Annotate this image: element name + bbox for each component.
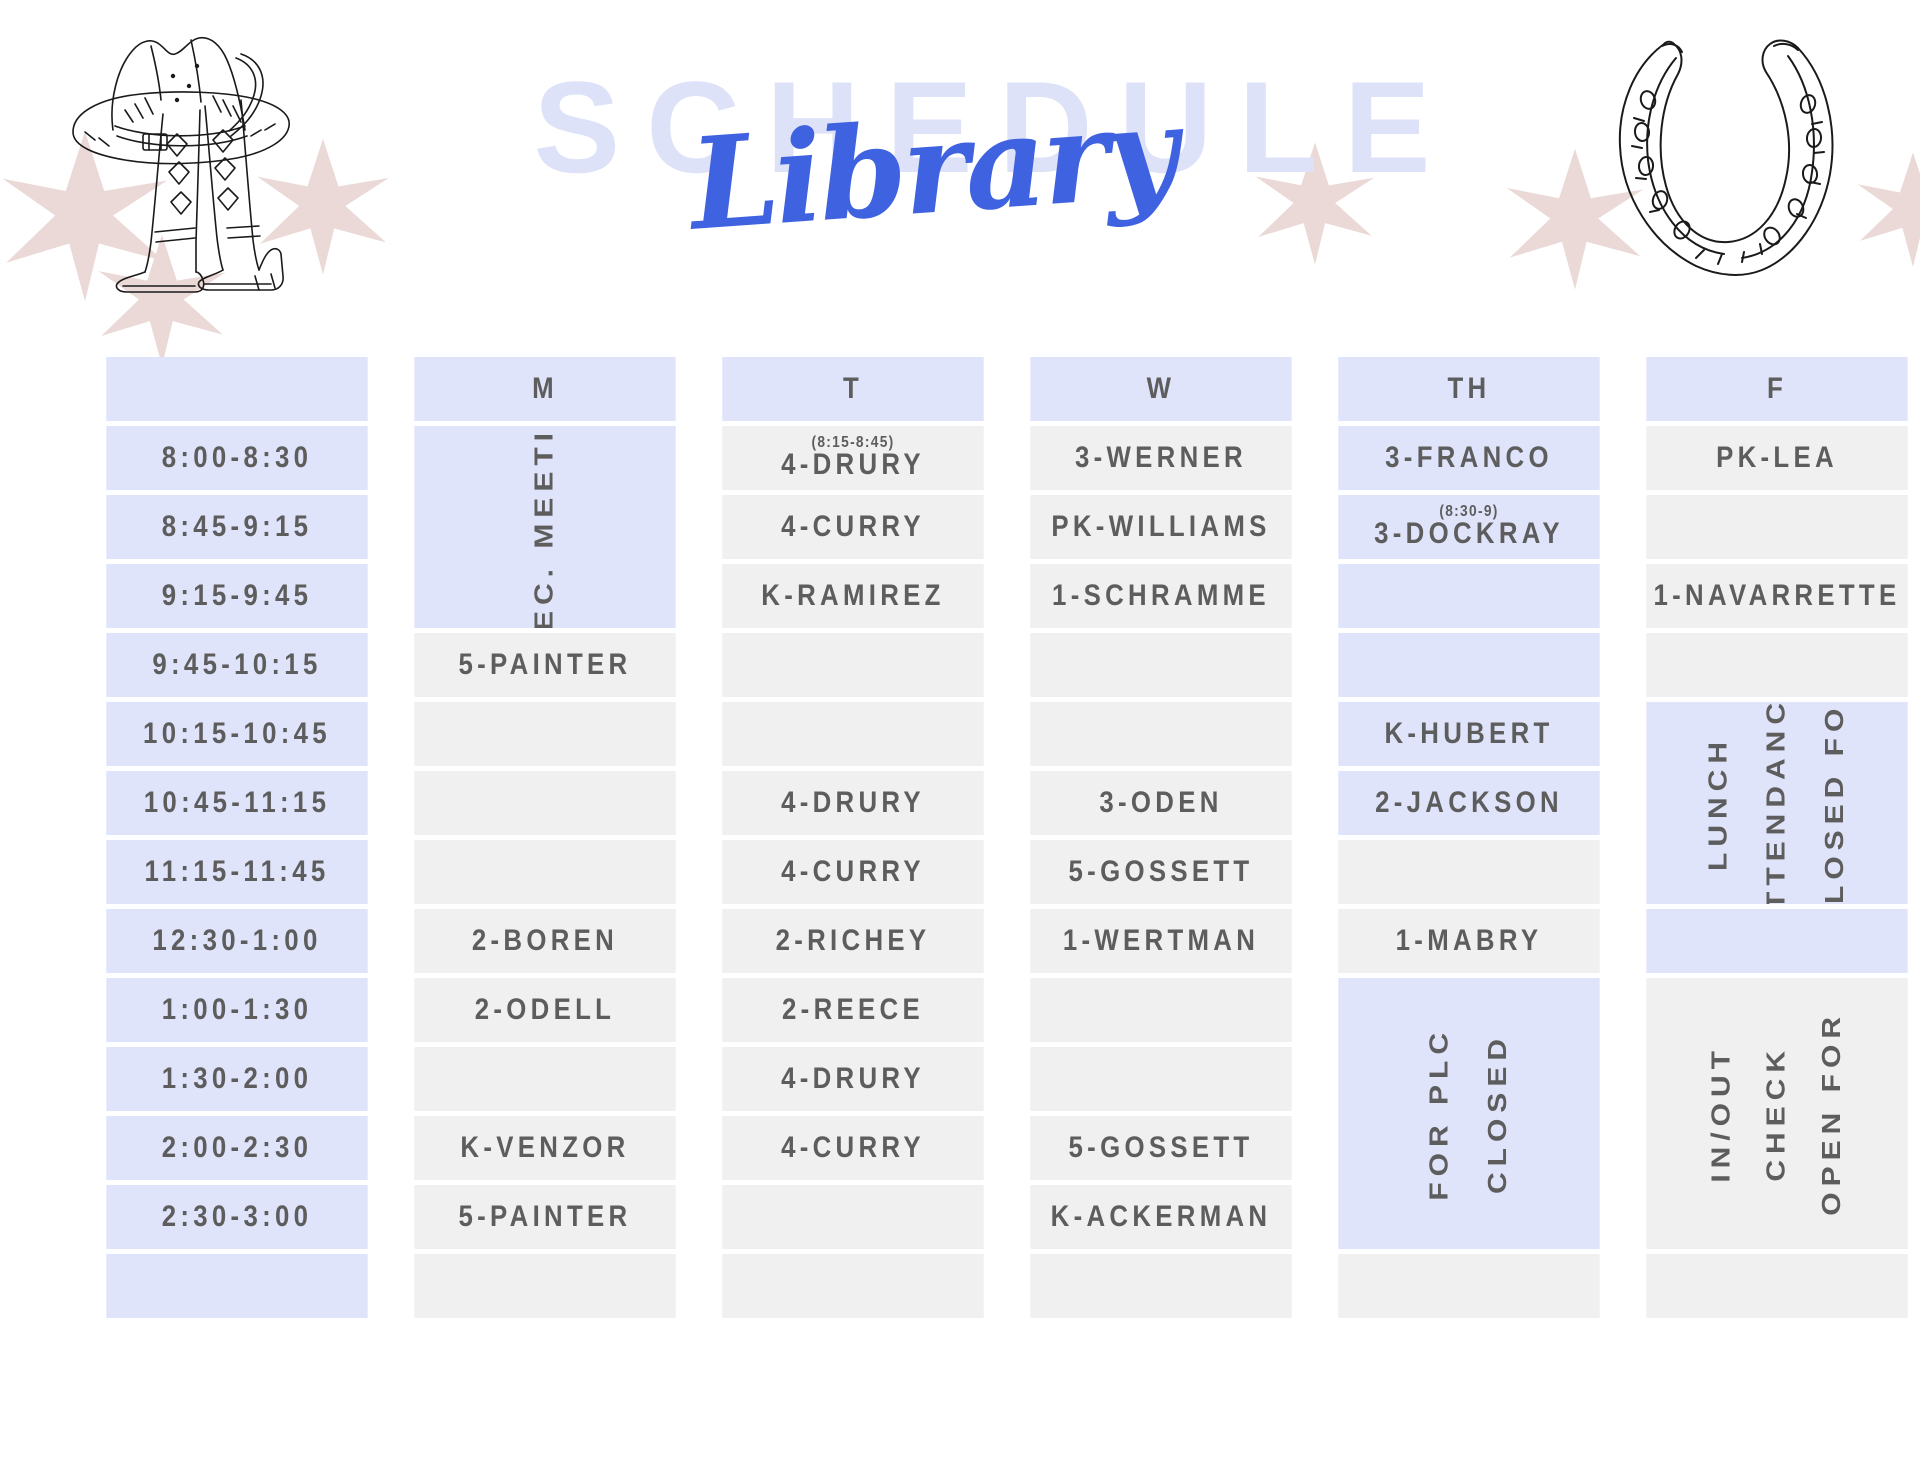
cell-text: K-VENZOR xyxy=(418,1132,673,1164)
table-row: 10:45-11:15 4-DRURY 3-ODEN 2-JACKSON xyxy=(85,771,1920,835)
table-row: 8:45-9:15 4-CURRY PK-WILLIAMS (8:30-9) 3… xyxy=(85,495,1920,559)
in-out-label: IN/OUT xyxy=(1707,1045,1736,1183)
cell-w-r2[interactable]: PK-WILLIAMS xyxy=(1030,495,1291,559)
time-label: 2:30-3:00 xyxy=(106,1185,367,1249)
cell-m-exec-meeting[interactable]: EXEC. MEETING xyxy=(414,426,675,628)
cell-m-r9[interactable]: 2-ODELL xyxy=(414,978,675,1042)
table-row: 2:30-3:00 5-PAINTER K-ACKERMAN xyxy=(85,1185,1920,1249)
cell-t-r8[interactable]: 2-RICHEY xyxy=(722,909,983,973)
cell-text: 4-CURRY xyxy=(726,511,981,543)
cell-text: 3-DOCKRAY xyxy=(1342,518,1597,550)
cell-text: K-ACKERMAN xyxy=(1034,1201,1289,1233)
cell-w-r10[interactable] xyxy=(1030,1047,1291,1111)
cell-text: 5-GOSSETT xyxy=(1034,1132,1289,1164)
cell-t-r3[interactable]: K-RAMIREZ xyxy=(722,564,983,628)
cell-text: 4-CURRY xyxy=(726,856,981,888)
cell-th-r6[interactable]: 2-JACKSON xyxy=(1338,771,1599,835)
cell-th-r7[interactable] xyxy=(1338,840,1599,904)
cell-text: PK-LEA xyxy=(1650,442,1905,474)
header-time-column xyxy=(106,357,367,421)
exec-meeting-label: EXEC. MEETING xyxy=(530,426,559,628)
time-label: 9:45-10:15 xyxy=(106,633,367,697)
for-plc-label: FOR PLC xyxy=(1425,1027,1454,1201)
cell-w-r6[interactable]: 3-ODEN xyxy=(1030,771,1291,835)
table-row: 2:00-2:30 K-VENZOR 4-CURRY 5-GOSSETT xyxy=(85,1116,1920,1180)
schedule-table: M T W TH F 8:00-8:30 EXEC. MEETING (8:15… xyxy=(81,352,1920,1323)
cell-text: 4-DRURY xyxy=(726,787,981,819)
cell-w-r9[interactable] xyxy=(1030,978,1291,1042)
cell-t-r7[interactable]: 4-CURRY xyxy=(722,840,983,904)
header-day-m: M xyxy=(414,357,675,421)
cell-f-r8[interactable] xyxy=(1646,909,1907,973)
check-label: CHECK xyxy=(1762,1045,1791,1182)
closed-for-label: CLOSED FOR xyxy=(1821,702,1850,904)
table-row: 9:15-9:45 K-RAMIREZ 1-SCHRAMME 1-NAVARRE… xyxy=(85,564,1920,628)
cell-t-r5[interactable] xyxy=(722,702,983,766)
cell-text: K-HUBERT xyxy=(1342,718,1597,750)
table-row: 12:30-1:00 2-BOREN 2-RICHEY 1-WERTMAN 1-… xyxy=(85,909,1920,973)
time-label: 2:00-2:30 xyxy=(106,1116,367,1180)
cell-text: 4-DRURY xyxy=(726,449,981,481)
attendance-label: ATTENDANCE xyxy=(1762,702,1791,904)
time-label: 8:00-8:30 xyxy=(106,426,367,490)
cell-m-r4[interactable]: 5-PAINTER xyxy=(414,633,675,697)
header-day-f: F xyxy=(1646,357,1907,421)
cell-m-r5[interactable] xyxy=(414,702,675,766)
time-label: 11:15-11:45 xyxy=(106,840,367,904)
cell-w-r11[interactable]: 5-GOSSETT xyxy=(1030,1116,1291,1180)
day-header-row: M T W TH F xyxy=(85,357,1920,421)
cell-m-r7[interactable] xyxy=(414,840,675,904)
cell-f-r1[interactable]: PK-LEA xyxy=(1646,426,1907,490)
table-row xyxy=(85,1254,1920,1318)
cell-m-r12[interactable]: 5-PAINTER xyxy=(414,1185,675,1249)
cell-w-r5[interactable] xyxy=(1030,702,1291,766)
table-row: 9:45-10:15 5-PAINTER xyxy=(85,633,1920,697)
time-label: 10:15-10:45 xyxy=(106,702,367,766)
cell-t-r4[interactable] xyxy=(722,633,983,697)
cell-m-r8[interactable]: 2-BOREN xyxy=(414,909,675,973)
header-day-w: W xyxy=(1030,357,1291,421)
cell-f-r3[interactable]: 1-NAVARRETTE xyxy=(1646,564,1907,628)
cell-th-r8[interactable]: 1-MABRY xyxy=(1338,909,1599,973)
cell-f-r13[interactable] xyxy=(1646,1254,1907,1318)
cell-text: 5-PAINTER xyxy=(418,649,673,681)
cell-w-r8[interactable]: 1-WERTMAN xyxy=(1030,909,1291,973)
cell-m-r13[interactable] xyxy=(414,1254,675,1318)
time-label: 12:30-1:00 xyxy=(106,909,367,973)
cell-text: 3-WERNER xyxy=(1034,442,1289,474)
cell-th-r3[interactable] xyxy=(1338,564,1599,628)
table-row: 11:15-11:45 4-CURRY 5-GOSSETT xyxy=(85,840,1920,904)
cell-text: 3-ODEN xyxy=(1034,787,1289,819)
cell-text: 3-FRANCO xyxy=(1342,442,1597,474)
cell-w-r13[interactable] xyxy=(1030,1254,1291,1318)
cell-th-r1[interactable]: 3-FRANCO xyxy=(1338,426,1599,490)
cell-m-r10[interactable] xyxy=(414,1047,675,1111)
cell-w-r12[interactable]: K-ACKERMAN xyxy=(1030,1185,1291,1249)
cell-text: 1-MABRY xyxy=(1342,925,1597,957)
cell-m-r6[interactable] xyxy=(414,771,675,835)
time-label: 1:30-2:00 xyxy=(106,1047,367,1111)
cell-text: K-RAMIREZ xyxy=(726,580,981,612)
cell-text: 2-BOREN xyxy=(418,925,673,957)
cell-th-closed-for-plc[interactable]: FOR PLC CLOSED xyxy=(1338,978,1599,1249)
cell-text: 2-JACKSON xyxy=(1342,787,1597,819)
closed-label: CLOSED xyxy=(1484,1033,1513,1194)
header-day-th: TH xyxy=(1338,357,1599,421)
cell-text: 4-CURRY xyxy=(726,1132,981,1164)
cell-t-r1[interactable]: (8:15-8:45) 4-DRURY xyxy=(722,426,983,490)
lunch-label: LUNCH xyxy=(1704,736,1733,871)
cell-th-r13[interactable] xyxy=(1338,1254,1599,1318)
cell-text: 1-NAVARRETTE xyxy=(1650,580,1905,612)
table-row: 1:30-2:00 4-DRURY xyxy=(85,1047,1920,1111)
page-header: SCHEDULE Library xyxy=(0,0,1920,352)
cell-th-r4[interactable] xyxy=(1338,633,1599,697)
cell-text: 5-PAINTER xyxy=(418,1201,673,1233)
cell-f-open-for-check-in-out[interactable]: IN/OUT CHECK OPEN FOR xyxy=(1646,978,1907,1249)
cell-text: PK-WILLIAMS xyxy=(1034,511,1289,543)
cell-text: 2-ODELL xyxy=(418,994,673,1026)
cell-th-r2[interactable]: (8:30-9) 3-DOCKRAY xyxy=(1338,495,1599,559)
page-title-library: Library xyxy=(686,88,1178,247)
cell-text: 2-REECE xyxy=(726,994,981,1026)
table-row: 10:15-10:45 K-HUBERT LUNCH ATTENDANCE CL… xyxy=(85,702,1920,766)
table-body: 8:00-8:30 EXEC. MEETING (8:15-8:45) 4-DR… xyxy=(85,426,1920,1318)
open-for-label: OPEN FOR xyxy=(1817,1011,1846,1216)
table-head: M T W TH F xyxy=(85,357,1920,421)
time-label: 8:45-9:15 xyxy=(106,495,367,559)
cell-f-r2[interactable] xyxy=(1646,495,1907,559)
cell-w-r1[interactable]: 3-WERNER xyxy=(1030,426,1291,490)
cell-t-r13[interactable] xyxy=(722,1254,983,1318)
cell-t-r2[interactable]: 4-CURRY xyxy=(722,495,983,559)
time-label: 10:45-11:15 xyxy=(106,771,367,835)
cell-text: 4-DRURY xyxy=(726,1063,981,1095)
cell-t-r11[interactable]: 4-CURRY xyxy=(722,1116,983,1180)
table-row: 1:00-1:30 2-ODELL 2-REECE FOR PLC CLOSED… xyxy=(85,978,1920,1042)
cell-text: 1-WERTMAN xyxy=(1034,925,1289,957)
cell-w-r4[interactable] xyxy=(1030,633,1291,697)
cell-text: 2-RICHEY xyxy=(726,925,981,957)
header-day-t: T xyxy=(722,357,983,421)
cell-w-r3[interactable]: 1-SCHRAMME xyxy=(1030,564,1291,628)
cell-f-closed-for-attendance-lunch[interactable]: LUNCH ATTENDANCE CLOSED FOR xyxy=(1646,702,1907,904)
cell-t-r9[interactable]: 2-REECE xyxy=(722,978,983,1042)
cell-t-r10[interactable]: 4-DRURY xyxy=(722,1047,983,1111)
cell-w-r7[interactable]: 5-GOSSETT xyxy=(1030,840,1291,904)
cell-f-r4[interactable] xyxy=(1646,633,1907,697)
cell-text: 5-GOSSETT xyxy=(1034,856,1289,888)
cell-t-r6[interactable]: 4-DRURY xyxy=(722,771,983,835)
time-label: 1:00-1:30 xyxy=(106,978,367,1042)
time-label: 9:15-9:45 xyxy=(106,564,367,628)
cell-m-r11[interactable]: K-VENZOR xyxy=(414,1116,675,1180)
time-label xyxy=(106,1254,367,1318)
cell-th-r5[interactable]: K-HUBERT xyxy=(1338,702,1599,766)
cell-text: 1-SCHRAMME xyxy=(1034,580,1289,612)
cell-t-r12[interactable] xyxy=(722,1185,983,1249)
table-row: 8:00-8:30 EXEC. MEETING (8:15-8:45) 4-DR… xyxy=(85,426,1920,490)
